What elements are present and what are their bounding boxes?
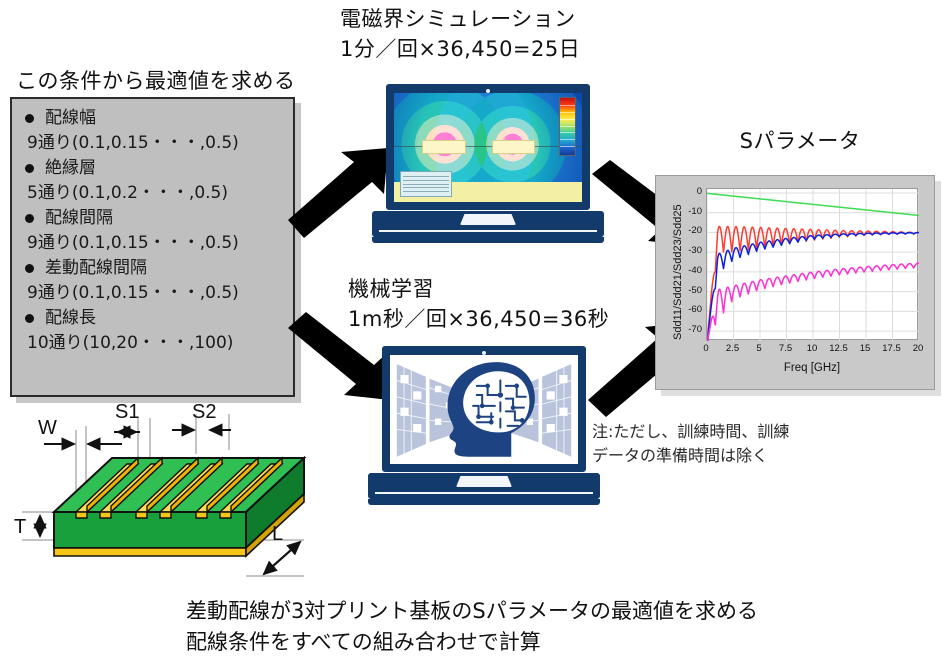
base-seam xyxy=(375,492,593,494)
colorbar-legend xyxy=(559,97,576,156)
x-tick-label: 10 xyxy=(797,343,827,354)
conditions-box: 配線幅 9通り(0.1,0.15・・・,0.5) 絶縁層 5通り(0.1,0.2… xyxy=(10,97,295,397)
ml-note-line1: 注:ただし、訓練時間、訓練 xyxy=(592,420,892,444)
laptop-base xyxy=(372,211,604,237)
caption-line2: 配線条件をすべての組み合わせで計算 xyxy=(186,627,906,658)
ml-screen xyxy=(390,355,578,464)
trace-conductor xyxy=(422,140,465,154)
laptop-foot xyxy=(372,237,604,243)
list-item: 絶縁層 5通り(0.1,0.2・・・,0.5) xyxy=(18,156,287,205)
laptop-base xyxy=(368,473,600,499)
bullet-icon xyxy=(25,214,34,223)
trackpad xyxy=(460,214,516,225)
slide-canvas: この条件から最適値を求める 配線幅 9通り(0.1,0.15・・・,0.5) 絶… xyxy=(0,0,950,666)
simulation-title: 電磁界シミュレーション xyxy=(340,4,640,34)
x-axis-label: Freq [GHz] xyxy=(706,362,918,374)
pcb-label-T: T xyxy=(14,516,26,538)
pcb-cross-section-diagram: W S1 S2 T L xyxy=(14,400,334,585)
simulation-subtitle: 1分／回×36,450=25日 xyxy=(340,34,640,64)
condition-detail: 9通り(0.1,0.15・・・,0.5) xyxy=(18,131,287,155)
condition-detail: 10通り(10,20・・・,100) xyxy=(18,331,287,355)
x-tick-label: 0 xyxy=(691,343,721,354)
bullet-icon xyxy=(25,114,34,123)
laptop-machine-learning xyxy=(364,346,604,521)
bullet-icon xyxy=(25,164,34,173)
y-axis-label: Sdd11/Sdd21/Sdd23/Sdd25 xyxy=(672,204,684,340)
s-parameter-chart: 0-10-20-30-40-50-60-70 02.557.51012.5151… xyxy=(655,175,935,390)
condition-detail: 9通り(0.1,0.15・・・,0.5) xyxy=(18,281,287,305)
bullet-icon xyxy=(25,314,34,323)
condition-name: 配線間隔 xyxy=(45,206,113,231)
condition-detail: 5通り(0.1,0.2・・・,0.5) xyxy=(18,181,287,205)
laptop-simulation xyxy=(368,84,608,259)
x-tick-label: 20 xyxy=(903,343,933,354)
base-seam xyxy=(379,230,597,232)
x-tick-label: 2.5 xyxy=(718,343,748,354)
pcb-label-S1: S1 xyxy=(115,401,139,423)
x-tick-label: 15 xyxy=(850,343,880,354)
laptop-lid xyxy=(386,84,590,210)
simulation-heading: 電磁界シミュレーション 1分／回×36,450=25日 xyxy=(340,4,640,64)
list-item: 差動配線間隔 9通り(0.1,0.15・・・,0.5) xyxy=(18,256,287,305)
ml-note: 注:ただし、訓練時間、訓練 データの準備時間は除く xyxy=(592,420,892,468)
x-tick-label: 7.5 xyxy=(771,343,801,354)
list-item: 配線間隔 9通り(0.1,0.15・・・,0.5) xyxy=(18,206,287,255)
y-tick-label: 0 xyxy=(676,186,702,197)
plot-curves xyxy=(707,189,919,341)
simulation-screen xyxy=(394,93,582,202)
bullet-icon xyxy=(25,264,34,273)
caption-line1: 差動配線が3対プリント基板のSパラメータの最適値を求める xyxy=(186,596,906,627)
trace-conductor xyxy=(492,140,535,154)
chart-title: Sパラメータ xyxy=(705,126,895,156)
list-item: 配線幅 9通り(0.1,0.15・・・,0.5) xyxy=(18,106,287,155)
pcb-label-S2: S2 xyxy=(192,401,216,423)
plot-area xyxy=(706,188,918,340)
x-tick-label: 5 xyxy=(744,343,774,354)
ml-note-line2: データの準備時間は除く xyxy=(592,444,892,468)
condition-name: 絶縁層 xyxy=(45,156,96,181)
pcb-label-W: W xyxy=(38,417,57,439)
laptop-foot xyxy=(368,499,600,505)
x-tick-label: 17.5 xyxy=(877,343,907,354)
ml-title: 機械学習 xyxy=(348,274,648,304)
conditions-title: この条件から最適値を求める xyxy=(16,66,356,96)
x-tick-label: 12.5 xyxy=(824,343,854,354)
simulation-info-panel xyxy=(400,171,453,197)
trackpad xyxy=(456,476,512,487)
list-item: 配線長 10通り(10,20・・・,100) xyxy=(18,306,287,355)
pcb-label-L: L xyxy=(272,523,283,545)
condition-name: 配線幅 xyxy=(45,106,96,131)
caption: 差動配線が3対プリント基板のSパラメータの最適値を求める 配線条件をすべての組み… xyxy=(186,596,906,658)
condition-name: 配線長 xyxy=(45,306,96,331)
ai-brain-head-icon xyxy=(390,355,578,464)
laptop-lid xyxy=(382,346,586,472)
condition-name: 差動配線間隔 xyxy=(45,256,147,281)
condition-detail: 9通り(0.1,0.15・・・,0.5) xyxy=(18,231,287,255)
